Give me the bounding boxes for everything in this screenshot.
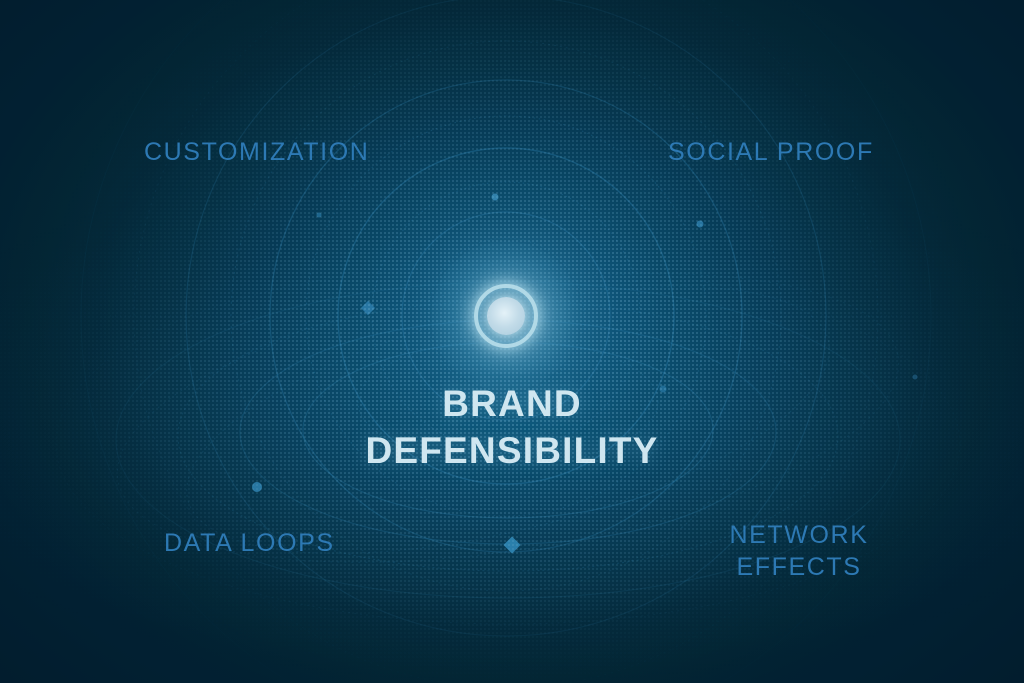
label-data-loops: DATA LOOPS bbox=[164, 527, 335, 559]
orb-core bbox=[487, 297, 525, 335]
label-customization: CUSTOMIZATION bbox=[144, 136, 369, 168]
label-network-effects-line-2: EFFECTS bbox=[724, 551, 874, 583]
title-line-1: BRAND bbox=[0, 381, 1024, 428]
label-network-effects: NETWORK EFFECTS bbox=[724, 519, 874, 583]
label-network-effects-line-1: NETWORK bbox=[724, 519, 874, 551]
label-social-proof: SOCIAL PROOF bbox=[668, 136, 874, 168]
title-line-2: DEFENSIBILITY bbox=[0, 428, 1024, 475]
page-title: BRAND DEFENSIBILITY bbox=[0, 381, 1024, 474]
diagram-canvas: BRAND DEFENSIBILITY CUSTOMIZATION SOCIAL… bbox=[0, 0, 1024, 683]
